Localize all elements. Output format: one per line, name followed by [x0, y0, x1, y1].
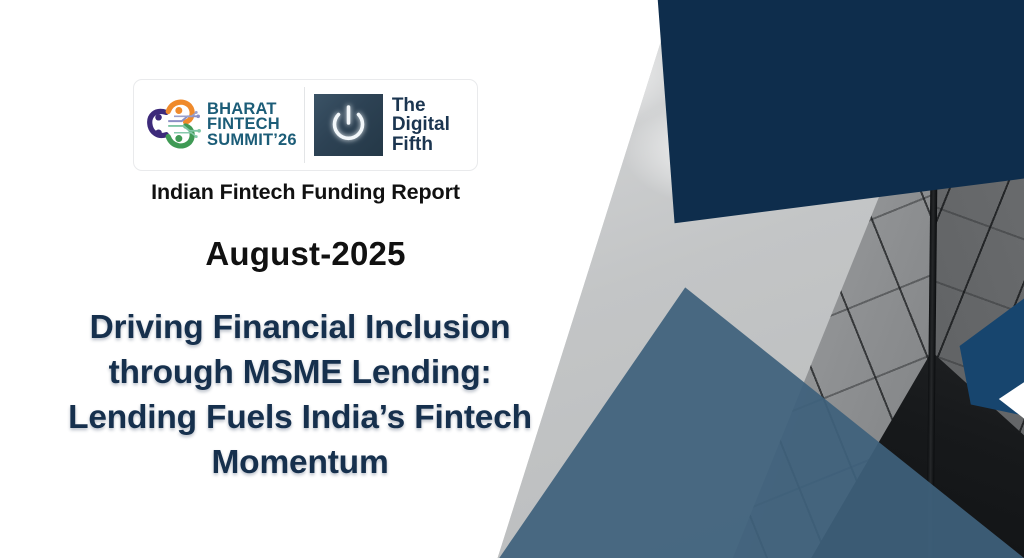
the-digital-fifth-logo: The Digital Fifth: [314, 94, 450, 156]
logo-divider: [304, 87, 305, 163]
power-icon: [314, 94, 383, 156]
report-date: August-2025: [133, 235, 478, 273]
bharat-fintech-summit-circuit-emblem-icon: [145, 96, 203, 154]
tdf-line-1: The: [392, 95, 426, 116]
logo-card: BHARAT FINTECH SUMMIT’26: [133, 79, 478, 171]
headline-line-4: Momentum: [10, 440, 590, 485]
cover-content: BHARAT FINTECH SUMMIT’26: [0, 0, 600, 558]
summit-line-3: SUMMIT’26: [207, 131, 297, 149]
headline-line-2: through MSME Lending:: [10, 350, 590, 395]
bharat-fintech-summit-logo: BHARAT FINTECH SUMMIT’26: [134, 80, 297, 170]
bharat-fintech-summit-wordmark: BHARAT FINTECH SUMMIT’26: [207, 102, 297, 149]
tdf-line-2: Digital: [392, 114, 450, 135]
report-title: Indian Fintech Funding Report: [133, 180, 478, 205]
report-cover-slide: BHARAT FINTECH SUMMIT’26: [0, 0, 1024, 558]
headline-line-1: Driving Financial Inclusion: [10, 305, 590, 350]
report-headline: Driving Financial Inclusion through MSME…: [10, 305, 590, 485]
headline-line-3: Lending Fuels India’s Fintech: [10, 395, 590, 440]
tdf-line-3: Fifth: [392, 134, 433, 155]
the-digital-fifth-wordmark: The Digital Fifth: [392, 96, 450, 155]
